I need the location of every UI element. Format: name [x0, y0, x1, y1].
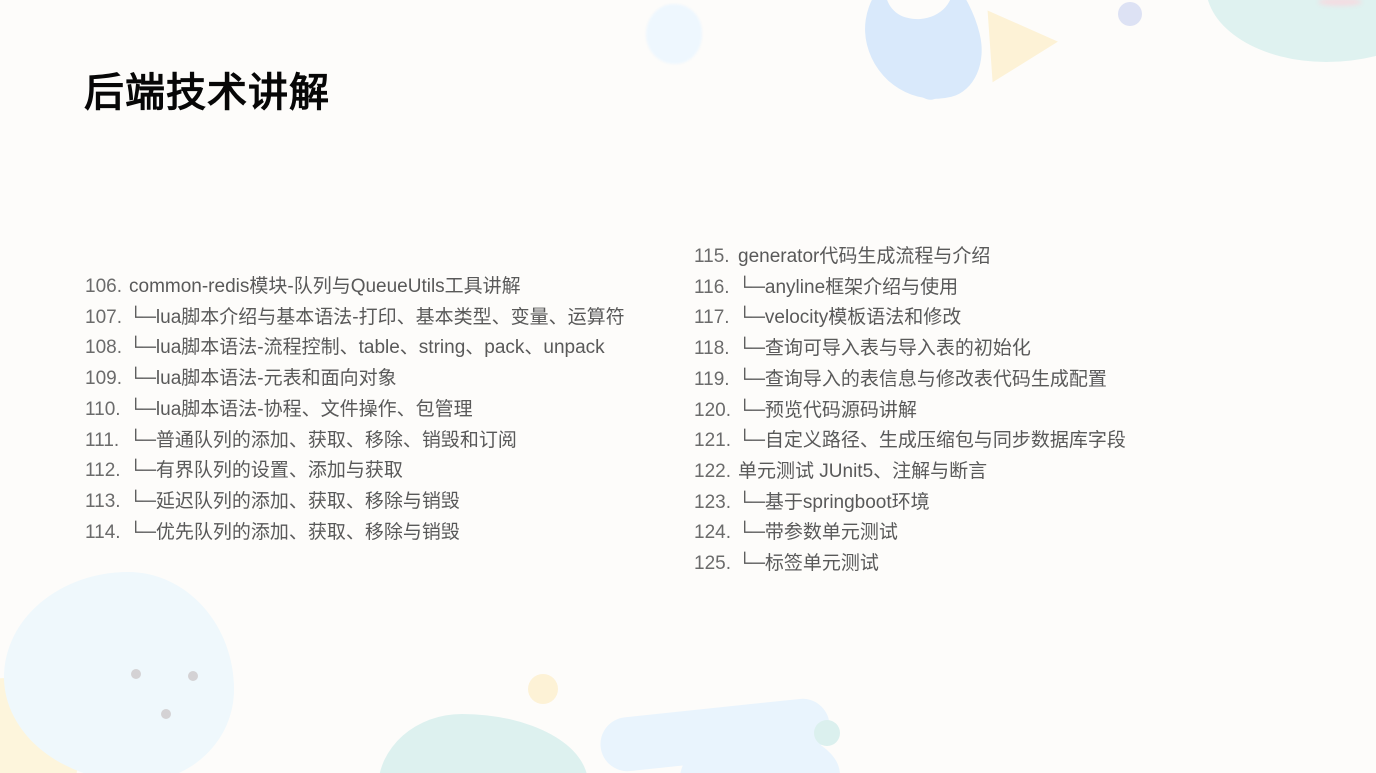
- outline-item-number: 123.: [694, 488, 738, 519]
- outline-item-label: common-redis模块-队列与QueueUtils工具讲解: [129, 272, 521, 303]
- outline-item-number: 112.: [85, 456, 129, 487]
- outline-item-number: 108.: [85, 333, 129, 364]
- outline-item: 111.└─普通队列的添加、获取、移除、销毁和订阅: [85, 426, 685, 457]
- outline-column-left: 106.common-redis模块-队列与QueueUtils工具讲解107.…: [85, 272, 685, 548]
- outline-item-number: 122.: [694, 457, 738, 488]
- outline-item: 112.└─有界队列的设置、添加与获取: [85, 456, 685, 487]
- outline-item-number: 120.: [694, 396, 738, 427]
- outline-item-number: 116.: [694, 273, 738, 304]
- outline-item: 114.└─优先队列的添加、获取、移除与销毁: [85, 518, 685, 549]
- outline-item: 120.└─预览代码源码讲解: [694, 396, 1254, 427]
- outline-item-number: 125.: [694, 549, 738, 580]
- outline-item: 107.└─lua脚本介绍与基本语法-打印、基本类型、变量、运算符: [85, 303, 685, 334]
- outline-item-label: └─优先队列的添加、获取、移除与销毁: [129, 518, 460, 549]
- outline-item-label: generator代码生成流程与介绍: [738, 242, 990, 273]
- outline-item-number: 118.: [694, 334, 738, 365]
- outline-item: 124.└─带参数单元测试: [694, 518, 1254, 549]
- outline-item: 116.└─anyline框架介绍与使用: [694, 273, 1254, 304]
- outline-item: 113.└─延迟队列的添加、获取、移除与销毁: [85, 487, 685, 518]
- outline-item: 106.common-redis模块-队列与QueueUtils工具讲解: [85, 272, 685, 303]
- outline-item: 108.└─lua脚本语法-流程控制、table、string、pack、unp…: [85, 333, 685, 364]
- outline-item: 123.└─基于springboot环境: [694, 488, 1254, 519]
- outline-item-number: 107.: [85, 303, 129, 334]
- outline-item-label: └─velocity模板语法和修改: [738, 303, 961, 334]
- outline-item: 110.└─lua脚本语法-协程、文件操作、包管理: [85, 395, 685, 426]
- outline-item: 125.└─标签单元测试: [694, 549, 1254, 580]
- presentation-slide: 后端技术讲解 106.common-redis模块-队列与QueueUtils工…: [0, 0, 1376, 773]
- outline-item-label: └─lua脚本介绍与基本语法-打印、基本类型、变量、运算符: [129, 303, 625, 334]
- outline-item-label: 单元测试 JUnit5、注解与断言: [738, 457, 987, 488]
- outline-item-label: └─lua脚本语法-流程控制、table、string、pack、unpack: [129, 333, 605, 364]
- outline-item-label: └─基于springboot环境: [738, 488, 930, 519]
- outline-item-label: └─查询导入的表信息与修改表代码生成配置: [738, 365, 1107, 396]
- outline-item: 115.generator代码生成流程与介绍: [694, 242, 1254, 273]
- outline-item-number: 115.: [694, 242, 738, 273]
- outline-item-number: 109.: [85, 364, 129, 395]
- outline-item-label: └─查询可导入表与导入表的初始化: [738, 334, 1031, 365]
- outline-item-label: └─延迟队列的添加、获取、移除与销毁: [129, 487, 460, 518]
- outline-item: 118.└─查询可导入表与导入表的初始化: [694, 334, 1254, 365]
- outline-item-number: 119.: [694, 365, 738, 396]
- outline-item-number: 111.: [85, 426, 129, 457]
- outline-item-label: └─有界队列的设置、添加与获取: [129, 456, 403, 487]
- outline-item-number: 110.: [85, 395, 129, 426]
- outline-item-label: └─自定义路径、生成压缩包与同步数据库字段: [738, 426, 1126, 457]
- outline-item-number: 106.: [85, 272, 129, 303]
- outline-item-label: └─带参数单元测试: [738, 518, 898, 549]
- outline-item: 122.单元测试 JUnit5、注解与断言: [694, 457, 1254, 488]
- outline-item-number: 114.: [85, 518, 129, 549]
- outline-column-right: 115.generator代码生成流程与介绍116.└─anyline框架介绍与…: [694, 242, 1254, 580]
- outline-item-label: └─lua脚本语法-元表和面向对象: [129, 364, 397, 395]
- outline-item-number: 113.: [85, 487, 129, 518]
- outline-item-number: 117.: [694, 303, 738, 334]
- page-title: 后端技术讲解: [84, 68, 330, 118]
- outline-item-label: └─预览代码源码讲解: [738, 396, 917, 427]
- outline-item: 109.└─lua脚本语法-元表和面向对象: [85, 364, 685, 395]
- outline-item-label: └─anyline框架介绍与使用: [738, 273, 958, 304]
- outline-item-label: └─标签单元测试: [738, 549, 879, 580]
- outline-item: 121.└─自定义路径、生成压缩包与同步数据库字段: [694, 426, 1254, 457]
- outline-item: 119.└─查询导入的表信息与修改表代码生成配置: [694, 365, 1254, 396]
- outline-item-label: └─普通队列的添加、获取、移除、销毁和订阅: [129, 426, 517, 457]
- outline-item-label: └─lua脚本语法-协程、文件操作、包管理: [129, 395, 473, 426]
- outline-item: 117.└─velocity模板语法和修改: [694, 303, 1254, 334]
- outline-item-number: 124.: [694, 518, 738, 549]
- outline-item-number: 121.: [694, 426, 738, 457]
